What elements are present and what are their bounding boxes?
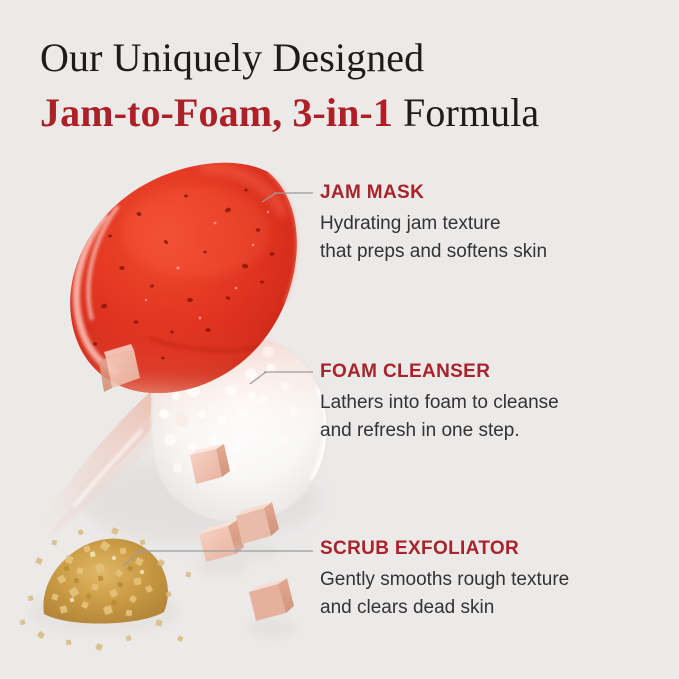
scrub-exfoliator-pile [19, 527, 191, 651]
callout-title-foam-cleanser: FOAM CLEANSER [320, 361, 650, 383]
callout-body-line-1: Lathers into foam to cleanse [320, 389, 650, 417]
headline-line-2: Jam-to-Foam, 3-in-1 Formula [40, 87, 640, 140]
callout-title-jam-mask: JAM MASK [320, 182, 650, 204]
callout-scrub-exfoliator: SCRUB EXFOLIATOR Gently smooths rough te… [320, 538, 650, 621]
scrub-cube-c [246, 578, 298, 637]
headline-accent: Jam-to-Foam, 3-in-1 [40, 90, 393, 135]
product-infographic: Our Uniquely Designed Jam-to-Foam, 3-in-… [0, 0, 679, 679]
callout-jam-mask: JAM MASK Hydrating jam texture that prep… [320, 182, 650, 265]
callout-foam-cleanser: FOAM CLEANSER Lathers into foam to clean… [320, 361, 650, 444]
callout-body-foam-cleanser: Lathers into foam to cleanse and refresh… [320, 389, 650, 444]
callout-body-line-1: Hydrating jam texture [320, 210, 650, 238]
callout-title-scrub-exfoliator: SCRUB EXFOLIATOR [320, 538, 650, 560]
headline-line-1: Our Uniquely Designed [40, 32, 640, 85]
headline: Our Uniquely Designed Jam-to-Foam, 3-in-… [40, 32, 640, 140]
callout-body-scrub-exfoliator: Gently smooths rough texture and clears … [320, 566, 650, 621]
callout-body-line-2: and clears dead skin [320, 594, 650, 622]
callout-body-line-2: and refresh in one step. [320, 417, 650, 445]
headline-tail: Formula [393, 90, 539, 135]
callout-body-line-2: that preps and softens skin [320, 238, 650, 266]
callout-body-line-1: Gently smooths rough texture [320, 566, 650, 594]
callout-body-jam-mask: Hydrating jam texture that preps and sof… [320, 210, 650, 265]
